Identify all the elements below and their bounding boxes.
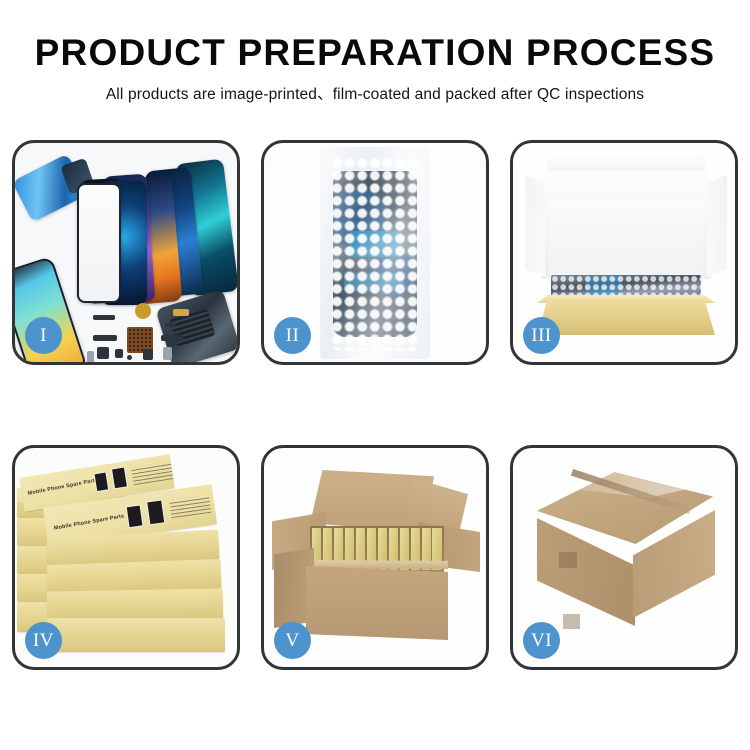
step-badge-1: I bbox=[25, 317, 62, 354]
step-badge-5: V bbox=[274, 622, 311, 659]
box-base-front bbox=[537, 299, 715, 335]
retail-box-front-3 bbox=[47, 588, 223, 621]
part-camera-module bbox=[143, 349, 153, 360]
part-vibrator bbox=[115, 349, 123, 358]
step-badge-6: VI bbox=[523, 622, 560, 659]
part-flex-cable-b bbox=[165, 323, 175, 327]
header: PRODUCT PREPARATION PROCESS All products… bbox=[0, 0, 750, 104]
carton-tape-patch-lower bbox=[563, 614, 580, 629]
carton-front-face bbox=[306, 566, 448, 640]
step-badge-3: III bbox=[523, 317, 560, 354]
tempered-glass-protector bbox=[77, 183, 121, 303]
page-title: PRODUCT PREPARATION PROCESS bbox=[0, 34, 750, 73]
box-label-thumb-2b bbox=[146, 499, 165, 525]
step-badge-2: II bbox=[274, 317, 311, 354]
part-speaker-mesh bbox=[97, 347, 109, 359]
step-panel-1: I bbox=[12, 140, 240, 365]
part-sim-tray bbox=[87, 351, 94, 362]
part-connector-strip bbox=[93, 315, 115, 320]
retail-box-front-4 bbox=[47, 618, 225, 652]
process-step-grid: I II bbox=[12, 140, 738, 680]
part-gold-coil bbox=[135, 303, 151, 319]
part-screw-set bbox=[127, 355, 132, 360]
product-preparation-infographic: PRODUCT PREPARATION PROCESS All products… bbox=[0, 0, 750, 750]
part-ribbon-right bbox=[161, 335, 183, 341]
step-panel-5: V bbox=[261, 445, 489, 670]
step-panel-2: II bbox=[261, 140, 489, 365]
step-badge-4: IV bbox=[25, 622, 62, 659]
page-subtitle: All products are image-printed、film-coat… bbox=[0, 82, 750, 104]
step-panel-3: III bbox=[510, 140, 738, 365]
part-battery-cell bbox=[163, 347, 172, 360]
box-label-thumb-2a bbox=[126, 504, 144, 528]
carton-tape-patch-upper bbox=[559, 552, 577, 568]
part-flex-cable-a bbox=[173, 309, 189, 316]
plastic-sheen bbox=[320, 147, 430, 359]
bubble-wrap-pouch bbox=[320, 147, 430, 359]
part-ribbon-left bbox=[93, 335, 117, 341]
box-label-thumb-1a bbox=[93, 471, 109, 492]
white-foam-lining bbox=[549, 201, 703, 281]
step-panel-6: VI bbox=[510, 445, 738, 670]
step-panel-4: Mobile Phone Spare Parts Mobile Phone Sp… bbox=[12, 445, 240, 670]
